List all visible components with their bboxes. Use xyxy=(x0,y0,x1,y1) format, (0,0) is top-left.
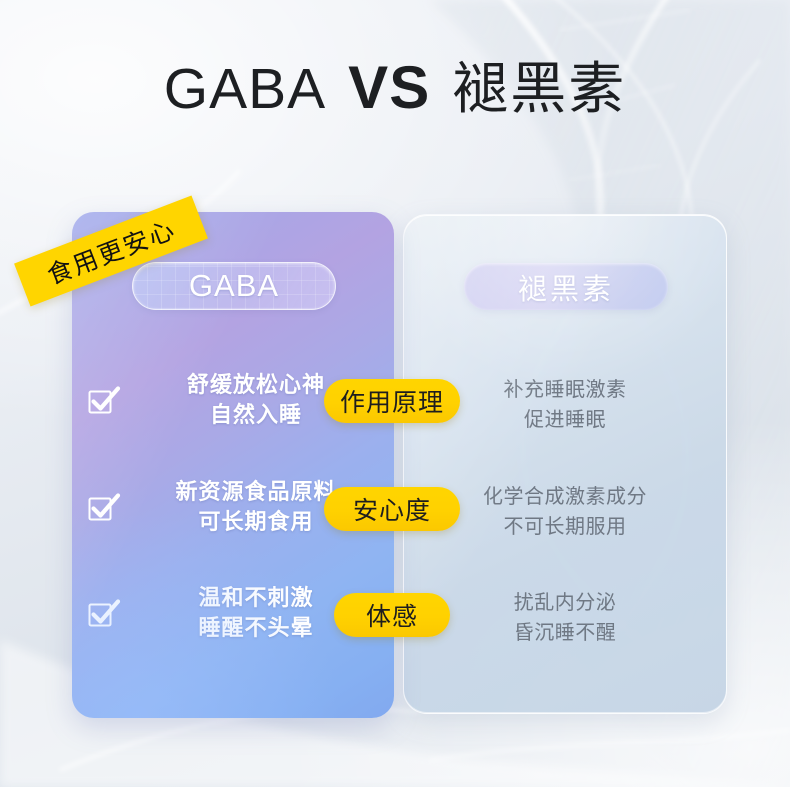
compare-label-1-text: 作用原理 xyxy=(340,383,444,419)
compare-label-3-text: 体感 xyxy=(366,597,418,633)
melatonin-row-3: 扰乱内分泌 昏沉睡不醒 xyxy=(404,588,726,648)
melatonin-row-3-line1: 扰乱内分泌 xyxy=(404,588,726,618)
poster-canvas: GABAVS褪黑素 褪黑素 补充睡眠激素 促进睡眠 化学合成激素成分 不可长期服… xyxy=(0,0,790,787)
compare-label-2: 安心度 xyxy=(324,487,460,531)
gaba-card-header: GABA xyxy=(132,262,336,310)
compare-label-2-text: 安心度 xyxy=(353,491,431,527)
checkbox-checked-icon xyxy=(84,487,124,527)
compare-label-1: 作用原理 xyxy=(324,379,460,423)
checkbox-checked-icon xyxy=(84,380,124,420)
gaba-card: GABA 舒缓放松心神 自然入睡 新资源食品原料 xyxy=(72,212,394,718)
checkbox-checked-icon xyxy=(84,593,124,633)
title-vs: VS xyxy=(348,54,430,121)
gaba-card-title: GABA xyxy=(189,268,279,304)
title-melatonin: 褪黑素 xyxy=(452,57,626,120)
melatonin-row-3-line2: 昏沉睡不醒 xyxy=(404,618,726,648)
melatonin-card-title: 褪黑素 xyxy=(518,266,614,308)
compare-label-3: 体感 xyxy=(334,593,450,637)
melatonin-card-header: 褪黑素 xyxy=(464,263,668,310)
title-gaba: GABA xyxy=(164,57,326,121)
page-title: GABAVS褪黑素 xyxy=(0,58,790,118)
melatonin-card: 褪黑素 补充睡眠激素 促进睡眠 化学合成激素成分 不可长期服用 扰乱内分泌 昏沉… xyxy=(403,214,727,714)
